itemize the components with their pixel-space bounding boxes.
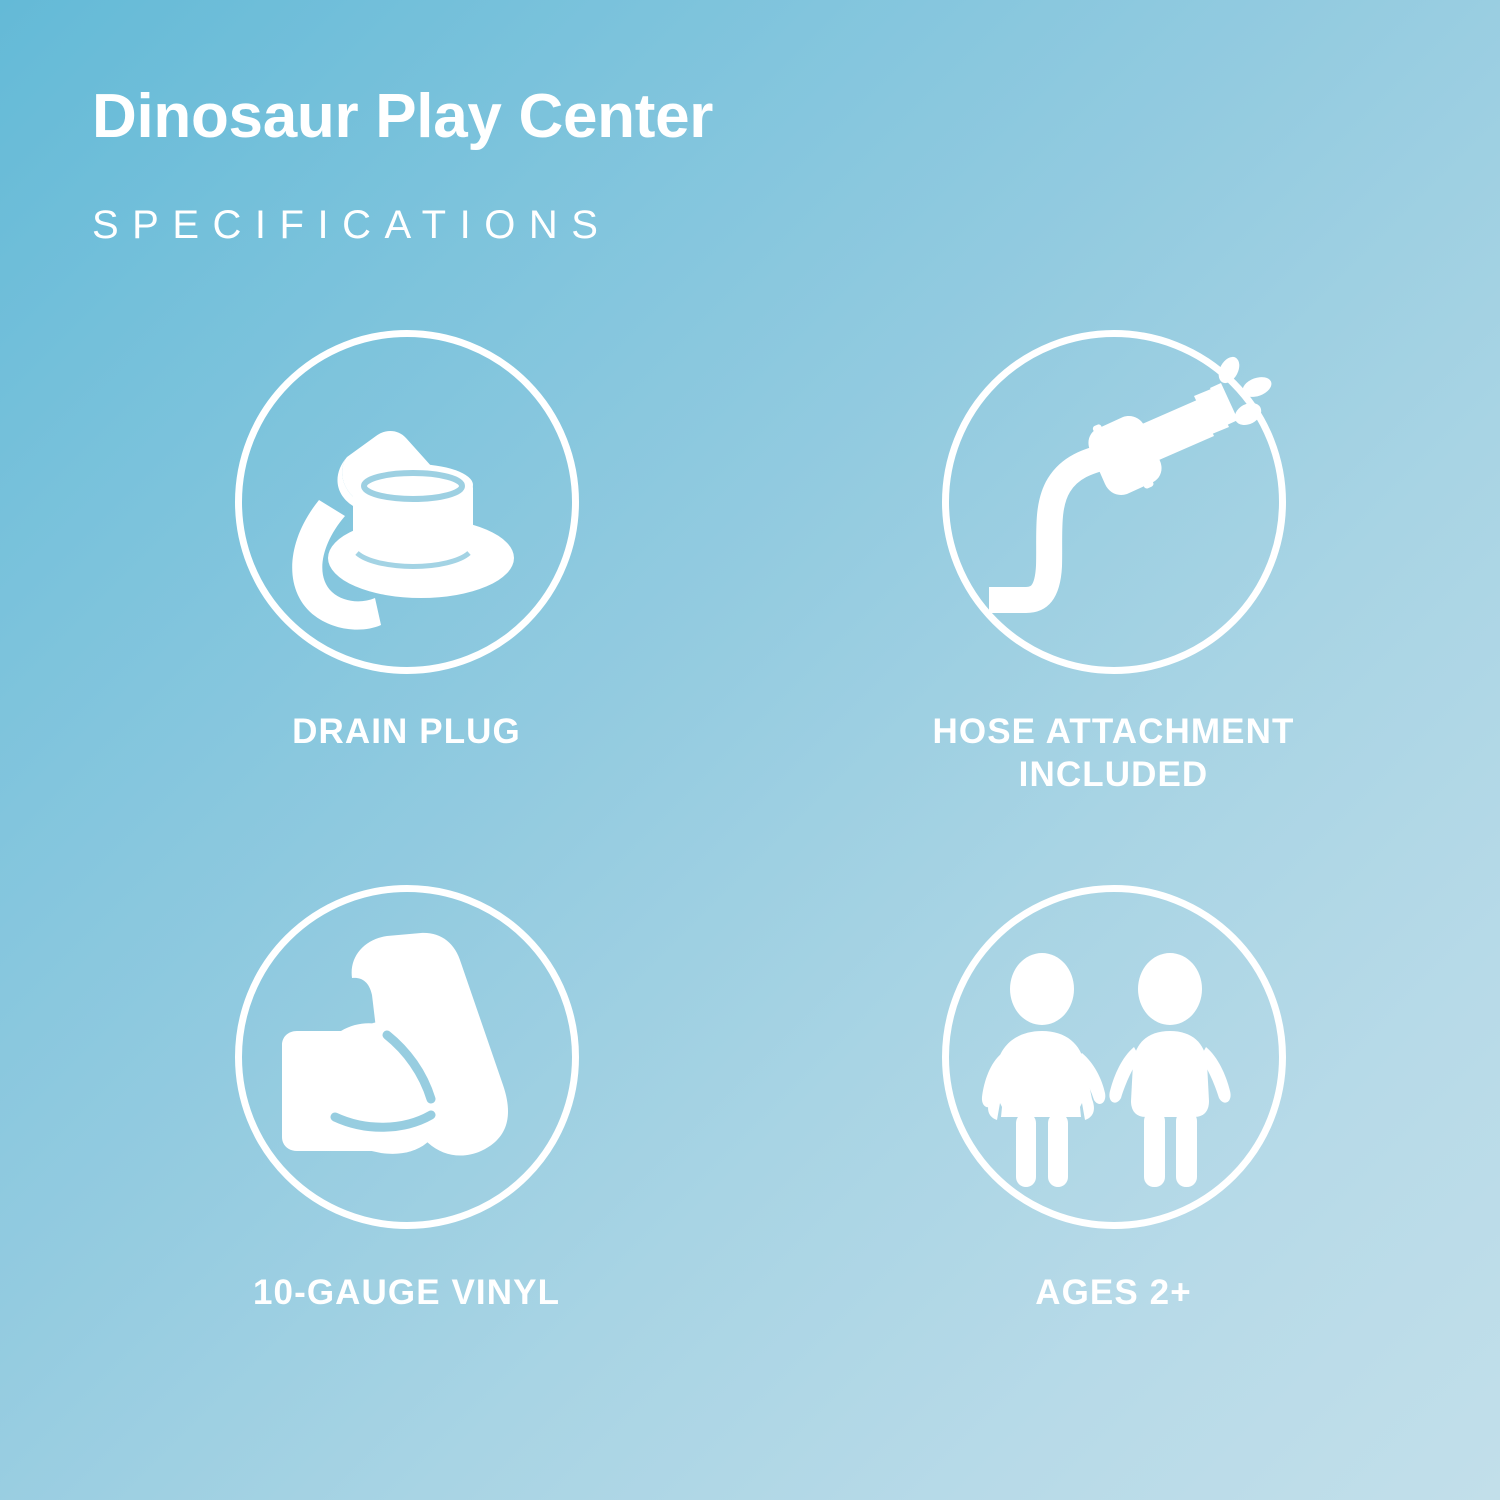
- boy-figure: [1109, 953, 1230, 1187]
- spec-item-age-range: AGES 2+: [727, 885, 1500, 1430]
- girl-figure: [981, 953, 1104, 1187]
- spec-label: DRAIN PLUG: [292, 710, 521, 753]
- page-subtitle: SPECIFICATIONS: [92, 203, 713, 248]
- flexing-bicep-icon: [235, 885, 579, 1229]
- spec-label: 10-GAUGE VINYL: [253, 1271, 560, 1314]
- spec-grid: DRAIN PLUG: [0, 330, 1500, 1430]
- page-title: Dinosaur Play Center: [92, 84, 713, 149]
- spec-item-hose-attachment: HOSE ATTACHMENT INCLUDED: [727, 330, 1500, 885]
- header: Dinosaur Play Center SPECIFICATIONS: [92, 84, 713, 248]
- spec-label: AGES 2+: [1035, 1271, 1192, 1314]
- specifications-infographic: { "header": { "title": "Dinosaur Play Ce…: [0, 0, 1500, 1500]
- spec-item-vinyl-gauge: 10-GAUGE VINYL: [0, 885, 727, 1430]
- spec-label: HOSE ATTACHMENT INCLUDED: [933, 710, 1295, 797]
- spec-item-drain-plug: DRAIN PLUG: [0, 330, 727, 885]
- two-children-icon: [942, 885, 1286, 1229]
- drain-plug-icon: [235, 330, 579, 674]
- hose-nozzle-icon: [942, 330, 1286, 674]
